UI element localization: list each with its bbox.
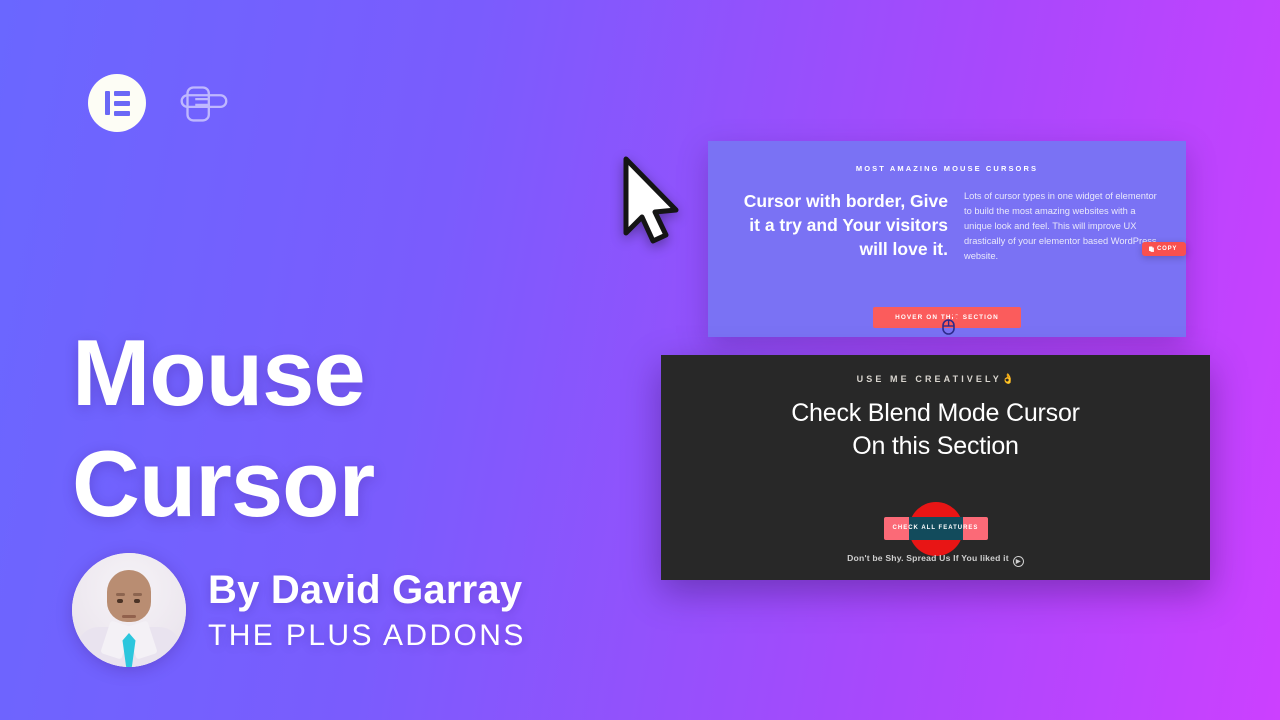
dark-panel-eyebrow-text: USE ME CREATIVELY [857,374,1002,384]
play-arrow-icon: ▶ [1013,556,1024,567]
author-name: By David Garray [208,568,526,612]
demo-panel-purple[interactable]: MOST AMAZING MOUSE CURSORS Cursor with b… [708,141,1186,337]
the-plus-addons-logo-icon [172,72,234,134]
author-block: By David Garray THE PLUS ADDONS [72,553,526,667]
purple-panel-eyebrow: MOST AMAZING MOUSE CURSORS [708,164,1186,173]
demo-panel-dark[interactable]: USE ME CREATIVELY👌 Check Blend Mode Curs… [661,355,1210,580]
elementor-logo-icon [88,74,146,132]
check-all-features-button-label: CHECK ALL FEATURES [884,517,988,540]
dark-panel-heading: Check Blend Mode Cursor On this Section [661,397,1210,464]
dark-panel-eyebrow: USE ME CREATIVELY👌 [661,374,1210,385]
headline-line-2: Cursor [72,429,374,540]
author-company: THE PLUS ADDONS [208,619,526,652]
copy-button-label: COPY [1157,246,1177,252]
purple-panel-paragraph: Lots of cursor types in one widget of el… [964,189,1166,264]
ok-hand-emoji: 👌 [1002,374,1014,385]
slide-canvas: Mouse Cursor By David Garray THE PLUS AD… [0,0,1280,720]
clipboard-icon [1149,246,1154,252]
purple-panel-heading: Cursor with border, Give it a try and Yo… [730,189,948,264]
dark-panel-footnote-text: Don't be Shy. Spread Us If You liked it [847,553,1009,563]
dark-panel-heading-line-1: Check Blend Mode Cursor [661,397,1210,430]
headline-line-1: Mouse [72,318,374,429]
mouse-pointer-icon [940,315,960,337]
dark-panel-cta-zone: CHECK ALL FEATURES [661,502,1210,548]
dark-panel-footnote[interactable]: Don't be Shy. Spread Us If You liked it▶ [661,553,1210,567]
brand-logos [88,72,234,134]
copy-button[interactable]: COPY [1142,242,1186,256]
dark-panel-heading-line-2: On this Section [661,430,1210,463]
arrow-pointer-icon [620,155,682,245]
page-title: Mouse Cursor [72,318,374,540]
avatar [72,553,186,667]
